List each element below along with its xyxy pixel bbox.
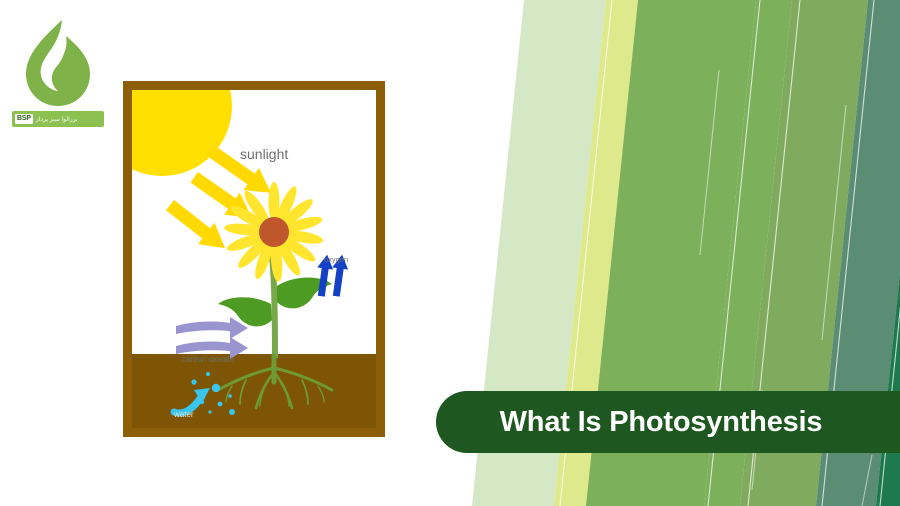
plant-roots: [218, 356, 332, 408]
page-title: What Is Photosynthesis: [500, 406, 823, 439]
label-water: water: [174, 410, 194, 419]
slide-canvas: BSP برزالوا سبز پرداز: [0, 0, 900, 506]
label-oxygen: oxygen: [324, 255, 348, 264]
photosynthesis-illustration: sunlight oxygen carbon dioxide water: [123, 81, 385, 437]
left-leaf: [218, 297, 272, 326]
illustration-inner: sunlight oxygen carbon dioxide water: [132, 90, 376, 428]
sun-icon: [132, 90, 232, 176]
carbon-dioxide-arrows: [176, 317, 248, 359]
brand-logo[interactable]: BSP برزالوا سبز پرداز: [12, 18, 104, 130]
leaf-flame-icon: [20, 18, 96, 110]
label-sunlight: sunlight: [240, 146, 288, 162]
title-banner: What Is Photosynthesis: [436, 391, 900, 453]
flower-center: [259, 217, 289, 247]
logo-abbreviation: BSP: [15, 114, 33, 124]
label-carbon-dioxide: carbon dioxide: [182, 355, 234, 364]
logo-wordmark-bar: BSP برزالوا سبز پرداز: [12, 111, 104, 127]
logo-script-text: برزالوا سبز پرداز: [36, 116, 78, 123]
